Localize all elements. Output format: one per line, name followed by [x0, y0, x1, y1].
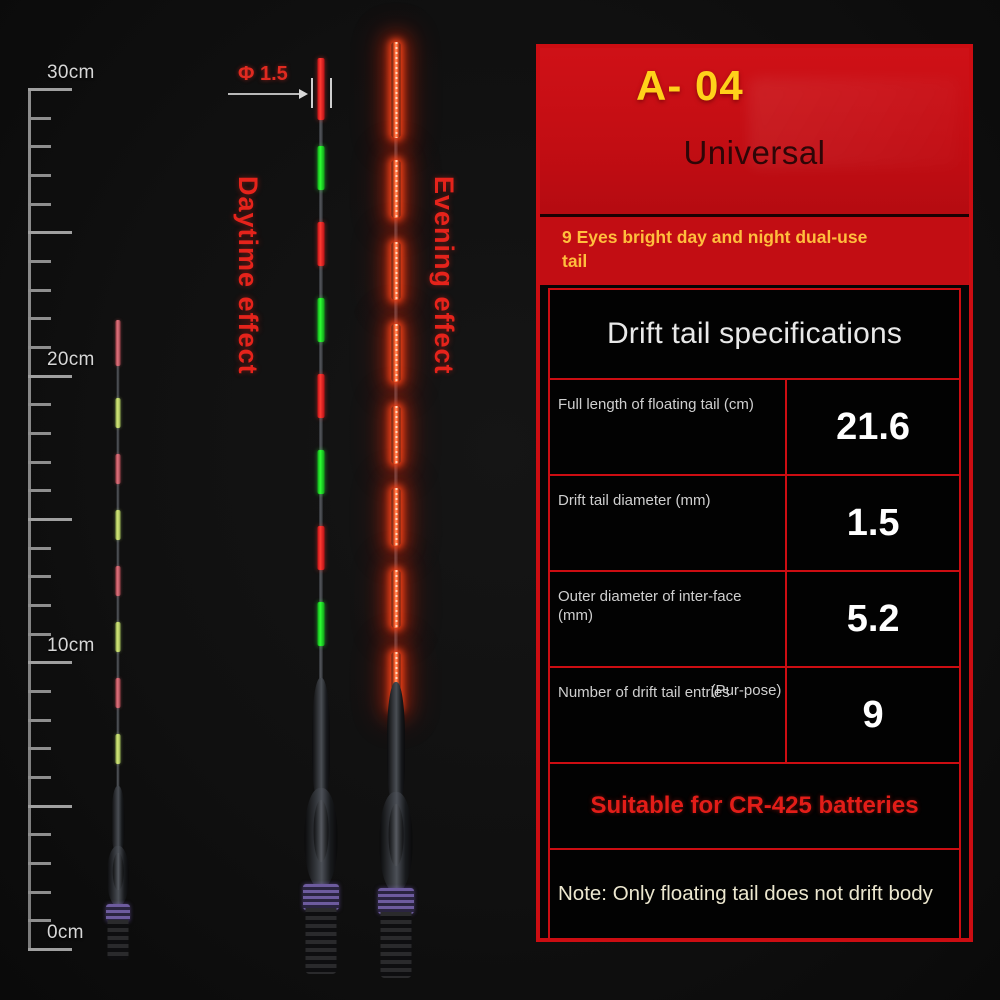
ruler-tick-minor	[28, 145, 51, 148]
float-segment	[318, 374, 325, 418]
led-dots	[395, 242, 397, 300]
ruler-tick-minor	[28, 260, 51, 263]
ruler-tick-major	[28, 375, 72, 378]
daytime-effect-label: Daytime effect	[232, 176, 263, 375]
float-segment	[318, 450, 325, 494]
table-row: Drift tail diameter (mm) 1.5	[548, 476, 961, 572]
ruler-tick-minor	[28, 289, 51, 292]
ruler-label: 20cm	[47, 349, 95, 371]
float-segment	[392, 488, 401, 546]
tagline-text: 9 Eyes bright day and night dual-use tai…	[562, 226, 892, 273]
float-segment	[116, 734, 121, 764]
table-row: Number of drift tail entries (Pur-pose) …	[548, 668, 961, 764]
ruler-tick-major	[28, 88, 72, 91]
ruler-tick-major	[28, 948, 72, 951]
float-segment	[392, 406, 401, 464]
ruler-tick-minor	[28, 833, 51, 836]
spec-table-title: Drift tail specifications	[548, 288, 961, 380]
panel-header: A- 04 Universal	[540, 48, 969, 214]
spec-key-text: Number of drift tail entries	[558, 684, 730, 701]
led-dots	[395, 406, 397, 464]
float-segment	[318, 526, 325, 570]
daytime-float	[303, 58, 339, 973]
float-segment	[116, 678, 121, 708]
ruler-tick-minor	[28, 432, 51, 435]
ruler-tick-major	[28, 805, 72, 808]
ruler-tick-minor	[28, 862, 51, 865]
ruler-tick-major	[28, 518, 72, 521]
footer-note: Note: Only floating tail does not drift …	[548, 850, 961, 940]
universal-label: Universal	[540, 134, 969, 172]
ruler-tick-minor	[28, 403, 51, 406]
spec-key: Full length of floating tail (cm)	[550, 380, 787, 474]
table-row: Full length of floating tail (cm) 21.6	[548, 380, 961, 476]
ruler-label: 10cm	[47, 635, 95, 657]
ruler-tick-minor	[28, 203, 51, 206]
ruler-label: 30cm	[47, 62, 95, 84]
model-name: A- 04	[636, 62, 744, 110]
float-segment	[116, 510, 121, 540]
spec-value: 1.5	[787, 476, 959, 570]
led-dots	[395, 160, 397, 218]
spec-key: Drift tail diameter (mm)	[550, 476, 787, 570]
led-dots	[395, 570, 397, 628]
battery-note: Suitable for CR-425 batteries	[548, 764, 961, 850]
measured-float	[103, 318, 133, 958]
diameter-bar-left	[311, 78, 313, 108]
ruler-tick-minor	[28, 747, 51, 750]
float-segment	[318, 222, 325, 266]
ruler-tick-minor	[28, 547, 51, 550]
ruler-tick-minor	[28, 575, 51, 578]
float-segment	[392, 324, 401, 382]
ruler-tick-minor	[28, 489, 51, 492]
led-dots	[395, 488, 397, 546]
diameter-arrow	[228, 93, 306, 95]
ruler-tick-minor	[28, 891, 51, 894]
ruler-tick-minor	[28, 174, 51, 177]
float-segment	[116, 566, 121, 596]
evening-float	[378, 42, 414, 972]
ruler-tick-minor	[28, 776, 51, 779]
led-dots	[395, 42, 397, 138]
ruler-tick-minor	[28, 690, 51, 693]
table-row: Outer diameter of inter-face (mm) 5.2	[548, 572, 961, 668]
ruler-label: 0cm	[47, 922, 84, 944]
ruler-tick-minor	[28, 604, 51, 607]
specification-panel: A- 04 Universal 9 Eyes bright day and ni…	[536, 44, 973, 942]
ruler-tick-major	[28, 661, 72, 664]
float-segment	[116, 320, 121, 366]
float-segment	[116, 622, 121, 652]
spec-key-purpose: (Pur-pose)	[710, 682, 782, 701]
spec-key: Number of drift tail entries (Pur-pose)	[550, 668, 787, 762]
float-segment	[116, 454, 121, 484]
ruler-tick-minor	[28, 719, 51, 722]
ruler-tick-minor	[28, 317, 51, 320]
float-segment	[318, 58, 325, 120]
spec-table: Drift tail specifications Full length of…	[548, 288, 961, 930]
led-dots	[395, 324, 397, 382]
diameter-annotation: Φ 1.5	[238, 63, 288, 86]
ruler-tick-minor	[28, 117, 51, 120]
float-segment	[318, 602, 325, 646]
ruler-tick-major	[28, 231, 72, 234]
float-segment	[392, 42, 401, 138]
measurement-ruler	[28, 88, 88, 948]
float-segment	[318, 298, 325, 342]
diameter-bar-right	[330, 78, 332, 108]
ruler-tick-minor	[28, 461, 51, 464]
spec-value: 21.6	[787, 380, 959, 474]
tagline-bar: 9 Eyes bright day and night dual-use tai…	[540, 214, 969, 285]
float-segment	[392, 570, 401, 628]
spec-value: 5.2	[787, 572, 959, 666]
float-segment	[392, 242, 401, 300]
float-segment	[318, 146, 325, 190]
spec-key: Outer diameter of inter-face (mm)	[550, 572, 787, 666]
spec-value: 9	[787, 668, 959, 762]
float-segment	[392, 160, 401, 218]
evening-effect-label: Evening effect	[428, 176, 459, 375]
float-segment	[116, 398, 121, 428]
